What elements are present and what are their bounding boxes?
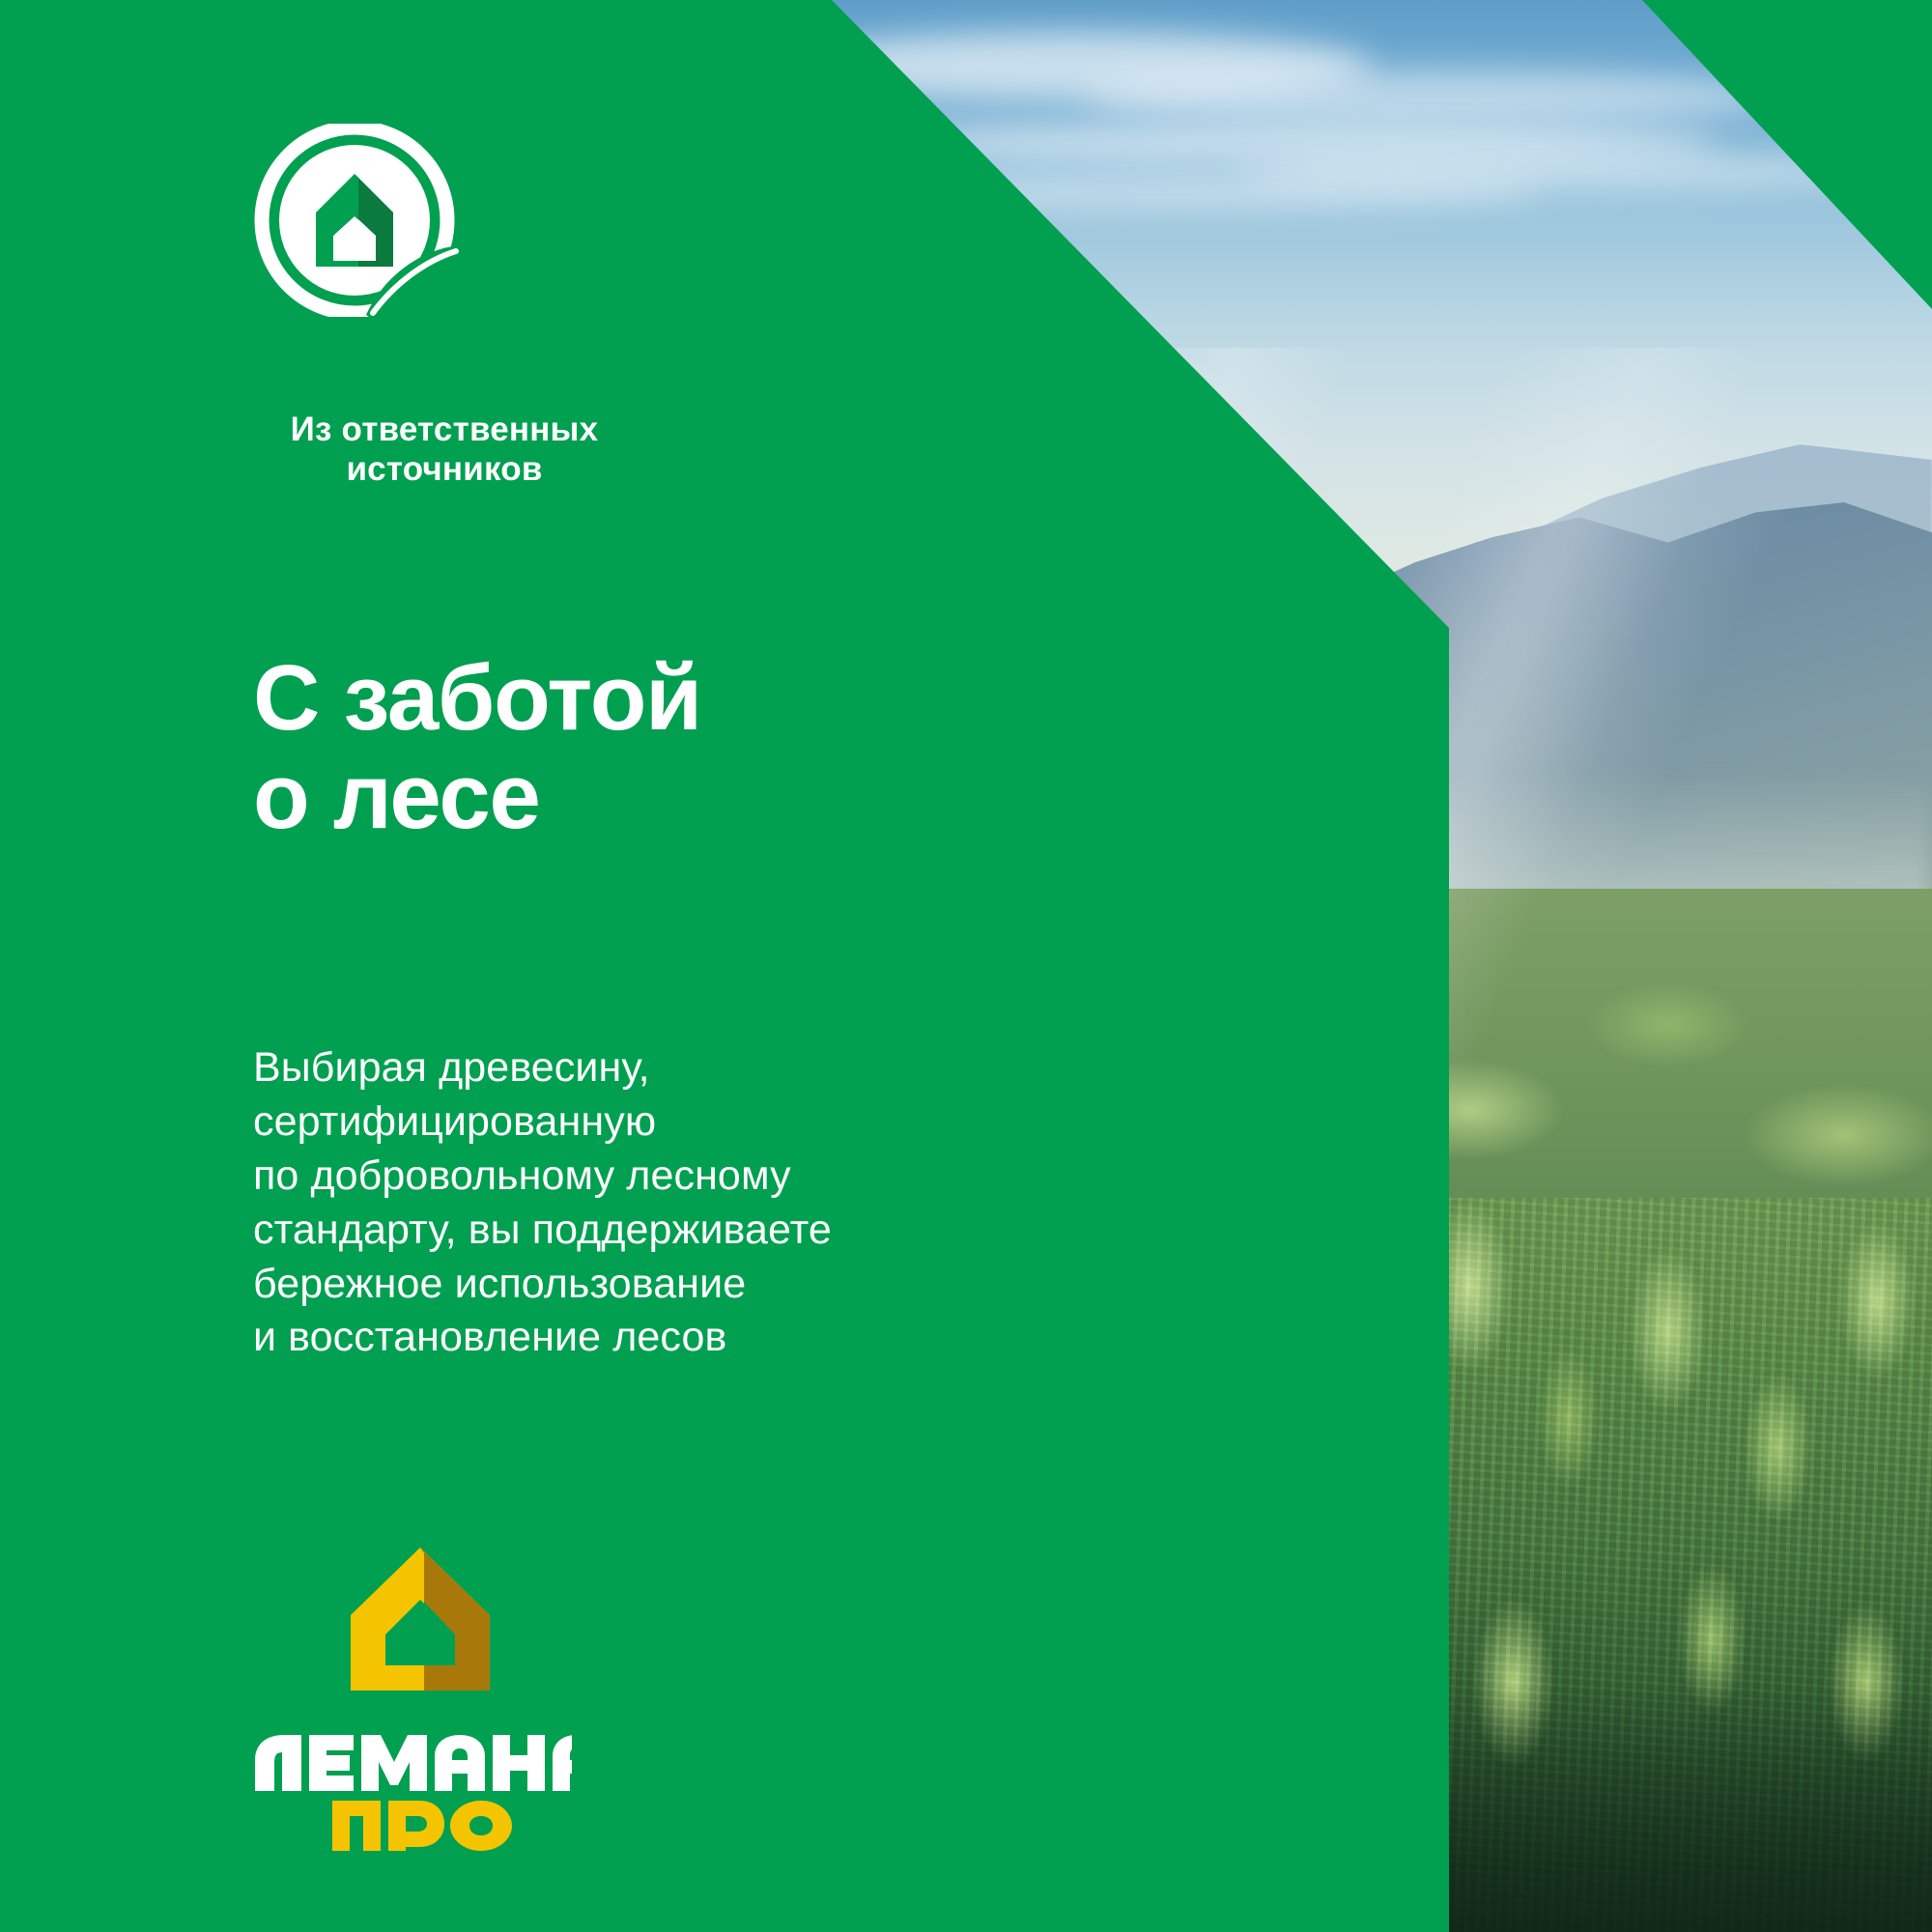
lemana-house-icon <box>343 1546 497 1692</box>
content-layer: Из ответственных источников С заботой о … <box>0 0 1932 1932</box>
poster-canvas: Из ответственных источников С заботой о … <box>0 0 1932 1932</box>
badge-caption: Из ответственных источников <box>193 410 696 490</box>
lemana-wordmark <box>253 1708 572 1853</box>
body-paragraph: Выбирая древесину, сертифицированную по … <box>253 1041 987 1365</box>
eco-house-leaf-badge-icon <box>253 124 489 317</box>
lemana-pro-logo <box>253 1546 639 1853</box>
page-title: С заботой о лесе <box>253 649 701 846</box>
